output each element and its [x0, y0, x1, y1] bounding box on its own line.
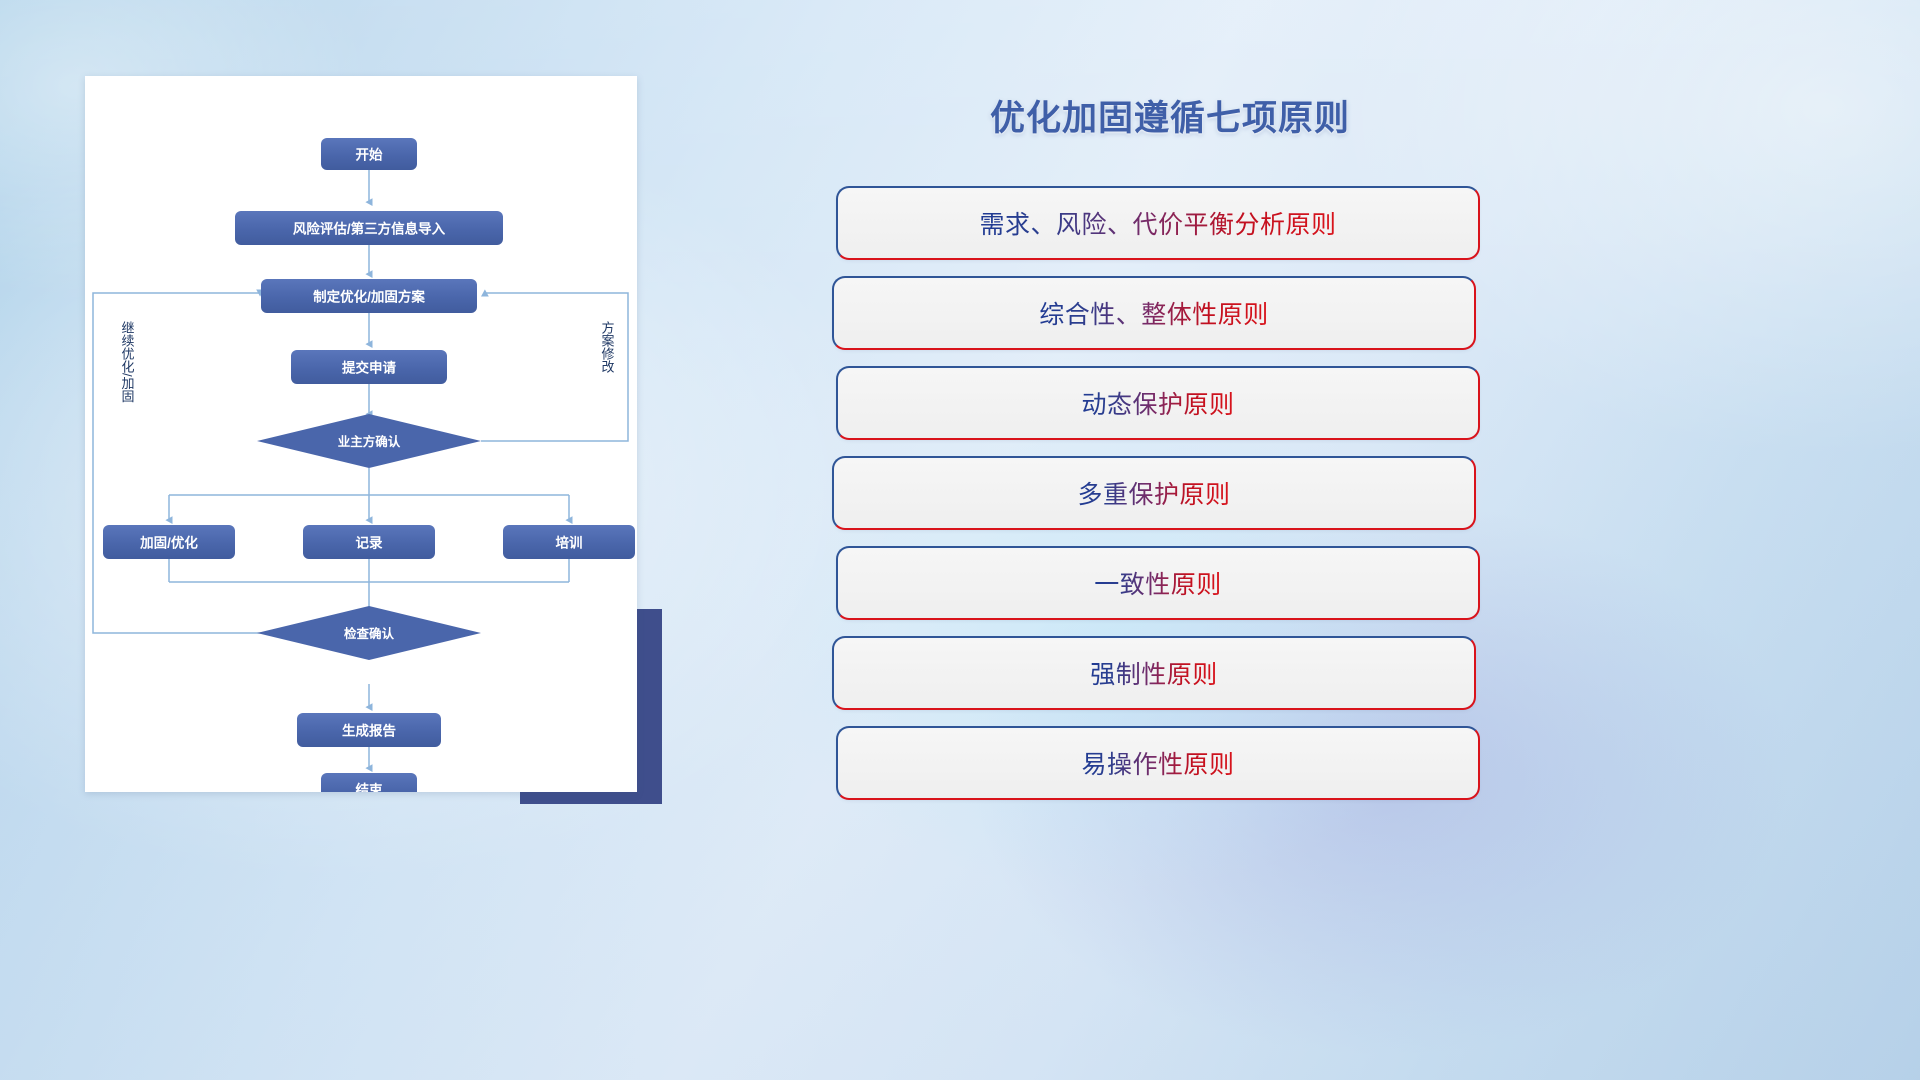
principle-card-2[interactable]: 综合性、整体性原则: [834, 278, 1474, 348]
flow-node-reinforce[interactable]: 加固/优化: [103, 525, 235, 559]
principle-card-6[interactable]: 强制性原则: [834, 638, 1474, 708]
flow-node-training-label: 培训: [556, 535, 583, 551]
flowchart-card: 开始 风险评估/第三方信息导入 制定优化/加固方案 提交申请 业主方确认: [85, 76, 637, 792]
panel-title: 优化加固遵循七项原则: [820, 90, 1520, 141]
flow-side-label-plan-revision: 方案修改: [600, 320, 615, 373]
principle-card-5-label: 一致性原则: [1094, 565, 1222, 601]
principle-card-6-label: 强制性原则: [1090, 655, 1218, 691]
flow-node-end[interactable]: 结束: [321, 773, 417, 792]
flow-node-record-label: 记录: [356, 536, 383, 551]
flow-node-risk-assess-label: 风险评估/第三方信息导入: [293, 221, 446, 237]
principle-card-3[interactable]: 动态保护原则: [838, 368, 1478, 438]
principles-panel: 优化加固遵循七项原则 需求、风险、代价平衡分析原则 综合性、整体性原则 动态保护…: [820, 70, 1520, 830]
flow-node-gen-report-label: 生成报告: [342, 723, 396, 739]
flow-node-end-label: 结束: [356, 782, 383, 793]
flow-node-start[interactable]: 开始: [321, 138, 417, 170]
flow-node-gen-report[interactable]: 生成报告: [297, 713, 441, 747]
flow-node-reinforce-label: 加固/优化: [139, 535, 198, 551]
principle-card-1-label: 需求、风险、代价平衡分析原则: [979, 205, 1336, 241]
principle-card-3-label: 动态保护原则: [1081, 385, 1234, 421]
flow-node-check-confirm-label: 检查确认: [344, 626, 395, 641]
flow-node-owner-confirm[interactable]: 业主方确认: [257, 414, 481, 468]
principle-card-4[interactable]: 多重保护原则: [834, 458, 1474, 528]
flow-node-submit-label: 提交申请: [342, 360, 396, 376]
flowchart-panel: 开始 风险评估/第三方信息导入 制定优化/加固方案 提交申请 业主方确认: [85, 76, 645, 792]
flowchart-svg: 开始 风险评估/第三方信息导入 制定优化/加固方案 提交申请 业主方确认: [85, 76, 637, 792]
flow-node-start-label: 开始: [356, 147, 383, 163]
principle-card-4-label: 多重保护原则: [1077, 475, 1230, 511]
flow-node-owner-confirm-label: 业主方确认: [338, 434, 401, 449]
principle-card-2-label: 综合性、整体性原则: [1039, 295, 1269, 331]
principle-card-1[interactable]: 需求、风险、代价平衡分析原则: [838, 188, 1478, 258]
principles-card-list: 需求、风险、代价平衡分析原则 综合性、整体性原则 动态保护原则 多重保护原则 一…: [820, 188, 1520, 818]
flow-node-make-plan[interactable]: 制定优化/加固方案: [261, 279, 477, 313]
flow-node-check-confirm[interactable]: 检查确认: [257, 606, 481, 660]
flow-node-risk-assess[interactable]: 风险评估/第三方信息导入: [235, 211, 503, 245]
principle-card-7[interactable]: 易操作性原则: [838, 728, 1478, 798]
flow-connectors: [93, 168, 628, 768]
principle-card-5[interactable]: 一致性原则: [838, 548, 1478, 618]
flow-node-submit[interactable]: 提交申请: [291, 350, 447, 384]
flow-node-training[interactable]: 培训: [503, 525, 635, 559]
principle-card-7-label: 易操作性原则: [1081, 745, 1234, 781]
flow-node-record[interactable]: 记录: [303, 525, 435, 559]
flow-node-make-plan-label: 制定优化/加固方案: [313, 289, 425, 305]
flow-side-label-continue-optimize: 继续优化/加固: [120, 321, 135, 403]
